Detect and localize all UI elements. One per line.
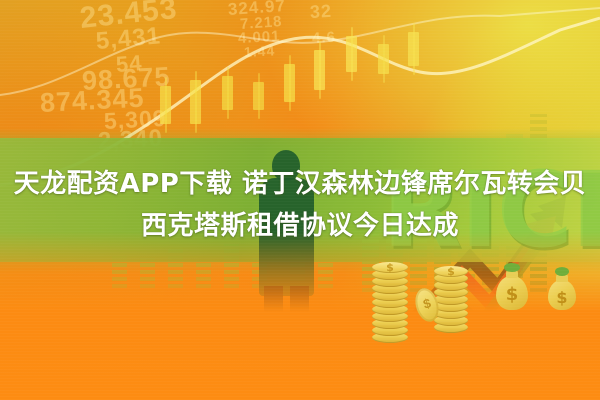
headline-line-2: 西克塔斯租借协议今日达成 [0, 205, 600, 247]
headline-line-1: 天龙配资APP下载 诺丁汉森林边锋席尔瓦转会贝 [0, 163, 600, 205]
money-bag-tie [504, 263, 521, 272]
dollar-sign-icon: $ [548, 288, 576, 307]
page-title: 天龙配资APP下载 诺丁汉森林边锋席尔瓦转会贝 西克塔斯租借协议今日达成 [0, 163, 600, 247]
dollar-sign-icon: $ [496, 284, 528, 305]
dollar-sign-icon: $ [372, 262, 408, 273]
money-bag-tie [555, 267, 570, 276]
news-banner-image: 23.4535,4315498.675874.3455,3092,340324.… [0, 0, 600, 400]
dollar-sign-icon: $ [434, 266, 468, 277]
gold-coin-stack: $ [434, 266, 468, 340]
gold-coin-stack: $ [372, 262, 408, 350]
